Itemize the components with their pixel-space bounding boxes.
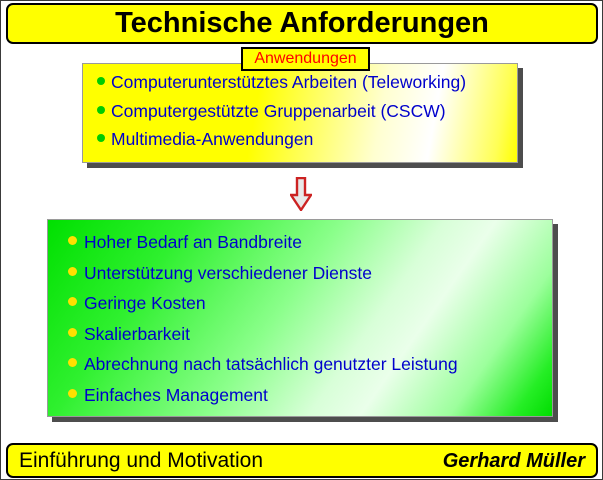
bullet-icon: [68, 267, 77, 276]
bullet-icon: [68, 297, 77, 306]
bullet-icon: [97, 134, 105, 142]
list-item: Hoher Bedarf an Bandbreite: [68, 234, 552, 252]
list-item-label: Abrechnung nach tatsächlich genutzter Le…: [84, 356, 458, 374]
list-item-label: Einfaches Management: [84, 387, 268, 405]
list-item: Abrechnung nach tatsächlich genutzter Le…: [68, 356, 552, 374]
list-item: Geringe Kosten: [68, 295, 552, 313]
list-item-label: Hoher Bedarf an Bandbreite: [84, 234, 302, 252]
footer-section-label: Einführung und Motivation: [19, 450, 263, 471]
applications-box: Computerunterstütztes Arbeiten (Telework…: [82, 63, 518, 163]
bullet-icon: [68, 328, 77, 337]
bullet-icon: [68, 236, 77, 245]
slide: Technische Anforderungen Computerunterst…: [0, 0, 603, 480]
list-item-label: Skalierbarkeit: [84, 326, 190, 344]
requirements-box: Hoher Bedarf an Bandbreite Unterstützung…: [47, 219, 553, 417]
list-item: Computergestützte Gruppenarbeit (CSCW): [97, 103, 517, 121]
bullet-icon: [68, 358, 77, 367]
list-item: Multimedia-Anwendungen: [97, 131, 517, 149]
list-item-label: Unterstützung verschiedener Dienste: [84, 265, 372, 283]
list-item-label: Computergestützte Gruppenarbeit (CSCW): [111, 103, 446, 121]
bullet-icon: [68, 389, 77, 398]
applications-caption-box: Anwendungen: [241, 47, 370, 71]
list-item-label: Multimedia-Anwendungen: [111, 131, 313, 149]
list-item-label: Geringe Kosten: [84, 295, 206, 313]
footer-author-label: Gerhard Müller: [443, 451, 585, 471]
list-item-label: Computerunterstütztes Arbeiten (Telework…: [111, 74, 466, 92]
applications-caption-label: Anwendungen: [254, 51, 356, 67]
list-item: Computerunterstütztes Arbeiten (Telework…: [97, 74, 517, 92]
bullet-icon: [97, 77, 105, 85]
slide-title-bar: Technische Anforderungen: [6, 3, 598, 44]
page-title: Technische Anforderungen: [115, 9, 489, 38]
list-item: Unterstützung verschiedener Dienste: [68, 265, 552, 283]
list-item: Skalierbarkeit: [68, 326, 552, 344]
bullet-icon: [97, 106, 105, 114]
slide-footer-bar: Einführung und Motivation Gerhard Müller: [6, 443, 598, 478]
list-item: Einfaches Management: [68, 387, 552, 405]
down-arrow-icon: [290, 177, 312, 211]
